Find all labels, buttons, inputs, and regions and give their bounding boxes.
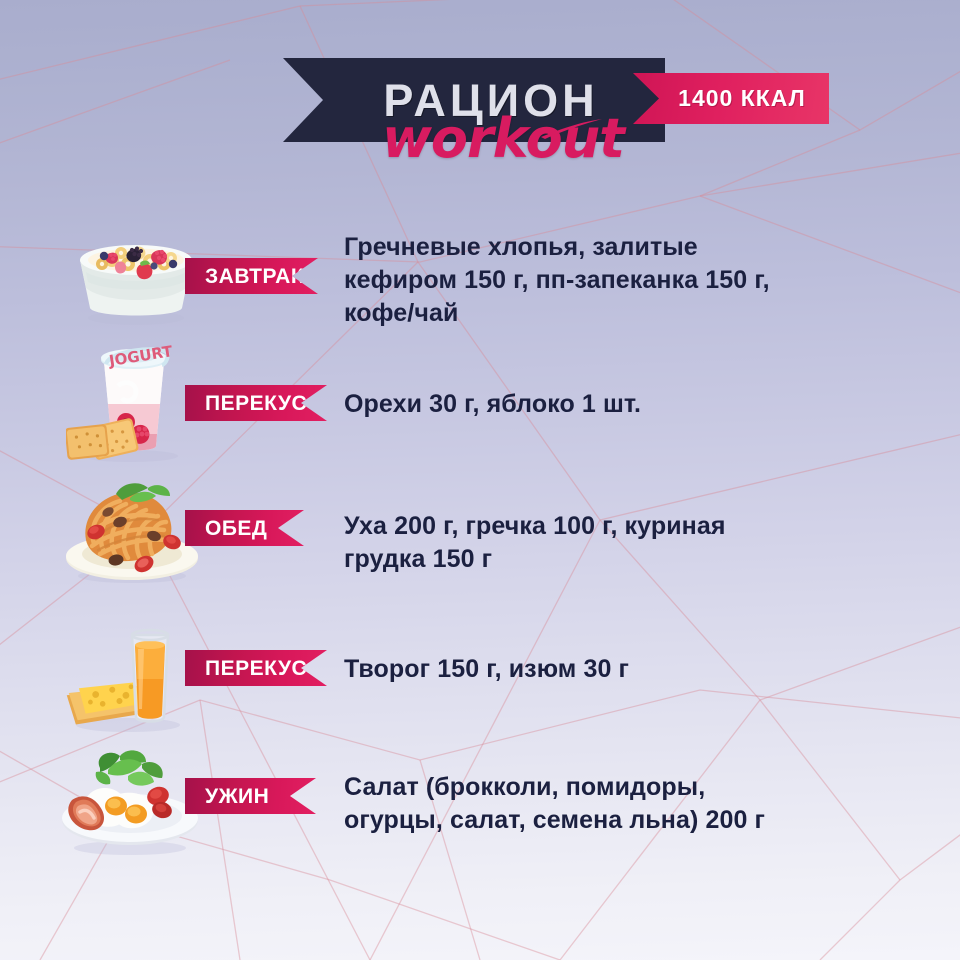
- meal-description: Гречневые хлопья, залитые кефиром 150 г,…: [344, 231, 904, 330]
- meal-label: ПЕРЕКУС: [205, 393, 307, 414]
- header: РАЦИОН 1400 ККАЛ workout: [0, 0, 960, 190]
- yogurt-cup-with-crackers-icon: JOGURT: [66, 338, 196, 464]
- meal-label: ПЕРЕКУС: [205, 658, 307, 679]
- meal-row: ПЕРЕКУС Творог 150 г, изюм 30 г: [0, 605, 960, 735]
- meal-description: Творог 150 г, изюм 30 г: [344, 653, 904, 686]
- meal-description: Уха 200 г, гречка 100 г, куриная грудка …: [344, 510, 914, 576]
- spaghetti-plate-icon: [60, 478, 205, 588]
- meal-label-ribbon: ОБЕД: [185, 510, 304, 546]
- brand-swoosh-icon: [540, 118, 604, 140]
- meal-label-ribbon: ПЕРЕКУС: [185, 385, 327, 421]
- calorie-badge-label: 1400 ККАЛ: [633, 73, 829, 124]
- meal-label-ribbon: УЖИН: [185, 778, 316, 814]
- meal-row: ОБЕД Уха 200 г, гречка 100 г, куриная гр…: [0, 478, 960, 598]
- meal-description: Орехи 30 г, яблоко 1 шт.: [344, 388, 904, 421]
- meal-row: УЖИН Салат (брокколи, помидоры, огурцы, …: [0, 748, 960, 858]
- meal-label: ОБЕД: [205, 518, 267, 539]
- meal-description: Салат (брокколи, помидоры, огурцы, салат…: [344, 771, 924, 837]
- meal-label-ribbon: ПЕРЕКУС: [185, 650, 327, 686]
- meal-row: ЗАВТРАК Гречневые хлопья, залитые кефиро…: [0, 218, 960, 338]
- meal-label: ЗАВТРАК: [205, 266, 304, 287]
- juice-glass-and-cheese-toast-icon: [58, 605, 198, 735]
- meal-label-ribbon: ЗАВТРАК: [185, 258, 318, 294]
- meal-row: JOGURT: [0, 338, 960, 468]
- meal-label: УЖИН: [205, 786, 269, 807]
- infographic-canvas: РАЦИОН 1400 ККАЛ workout: [0, 0, 960, 960]
